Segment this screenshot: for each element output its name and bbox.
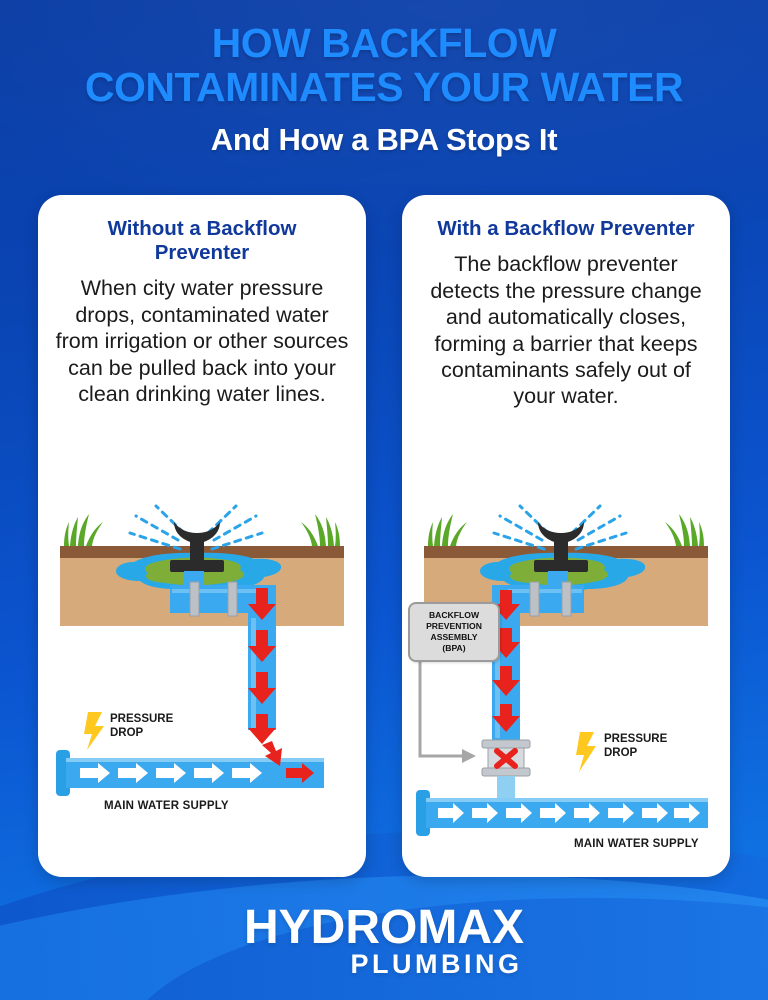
bpa-callout-line-3: ASSEMBLY	[414, 632, 494, 643]
title-line-2: CONTAMINATES YOUR WATER	[0, 66, 768, 110]
logo-name: HYDROMAX	[0, 900, 768, 955]
comparison-cards: Without a Backflow Preventer When city w…	[38, 195, 730, 877]
brand-logo: HYDROMAX PLUMBING	[0, 900, 768, 980]
infographic-poster: HOW BACKFLOW CONTAMINATES YOUR WATER And…	[0, 0, 768, 1000]
lightning-bolt-icon	[84, 712, 104, 750]
bpa-callout-leader	[420, 660, 464, 756]
pressure-drop-label: PRESSURE DROP	[110, 712, 173, 741]
page-subtitle: And How a BPA Stops It	[0, 122, 768, 158]
diagram-without-preventer: PRESSURE DROP MAIN WATER SUPPLY	[38, 500, 366, 877]
poster-header: HOW BACKFLOW CONTAMINATES YOUR WATER And…	[0, 22, 768, 158]
title-line-1: HOW BACKFLOW	[212, 20, 557, 66]
diagram-with-preventer: BACKFLOW PREVENTION ASSEMBLY (BPA) PRESS…	[402, 500, 730, 877]
card-without-preventer: Without a Backflow Preventer When city w…	[38, 195, 366, 877]
bpa-callout-line-1: BACKFLOW	[414, 610, 494, 621]
pressure-drop-label: PRESSURE DROP	[604, 732, 667, 761]
bpa-callout-arrowhead	[462, 749, 476, 763]
card-body-text: When city water pressure drops, contamin…	[38, 265, 366, 407]
grass-right-icon	[301, 514, 340, 546]
grass-left-icon	[428, 514, 467, 546]
card-heading: Without a Backflow Preventer	[38, 195, 366, 265]
page-title: HOW BACKFLOW CONTAMINATES YOUR WATER	[0, 22, 768, 110]
card-heading: With a Backflow Preventer	[402, 195, 730, 241]
lightning-bolt-icon	[576, 732, 596, 772]
pipe-below-valve	[497, 776, 515, 798]
pressure-drop-line1: PRESSURE	[110, 712, 173, 726]
card-body-text: The backflow preventer detects the press…	[402, 241, 730, 410]
grass-right-icon	[665, 514, 704, 546]
main-supply-label: MAIN WATER SUPPLY	[574, 838, 699, 850]
pressure-drop-line2: DROP	[110, 726, 173, 740]
logo-tagline: PLUMBING	[105, 949, 768, 980]
card-with-preventer: With a Backflow Preventer The backflow p…	[402, 195, 730, 877]
grass-left-icon	[64, 514, 103, 546]
main-supply-label: MAIN WATER SUPPLY	[104, 800, 229, 812]
backflow-preventer-valve	[482, 740, 530, 776]
bpa-callout-line-4: (BPA)	[414, 643, 494, 654]
pressure-drop-line2: DROP	[604, 746, 667, 760]
pressure-drop-line1: PRESSURE	[604, 732, 667, 746]
bpa-callout-line-2: PREVENTION	[414, 621, 494, 632]
diagram-svg-right	[402, 500, 730, 877]
diagram-svg-left	[38, 500, 366, 877]
bpa-callout-box: BACKFLOW PREVENTION ASSEMBLY (BPA)	[408, 602, 500, 662]
